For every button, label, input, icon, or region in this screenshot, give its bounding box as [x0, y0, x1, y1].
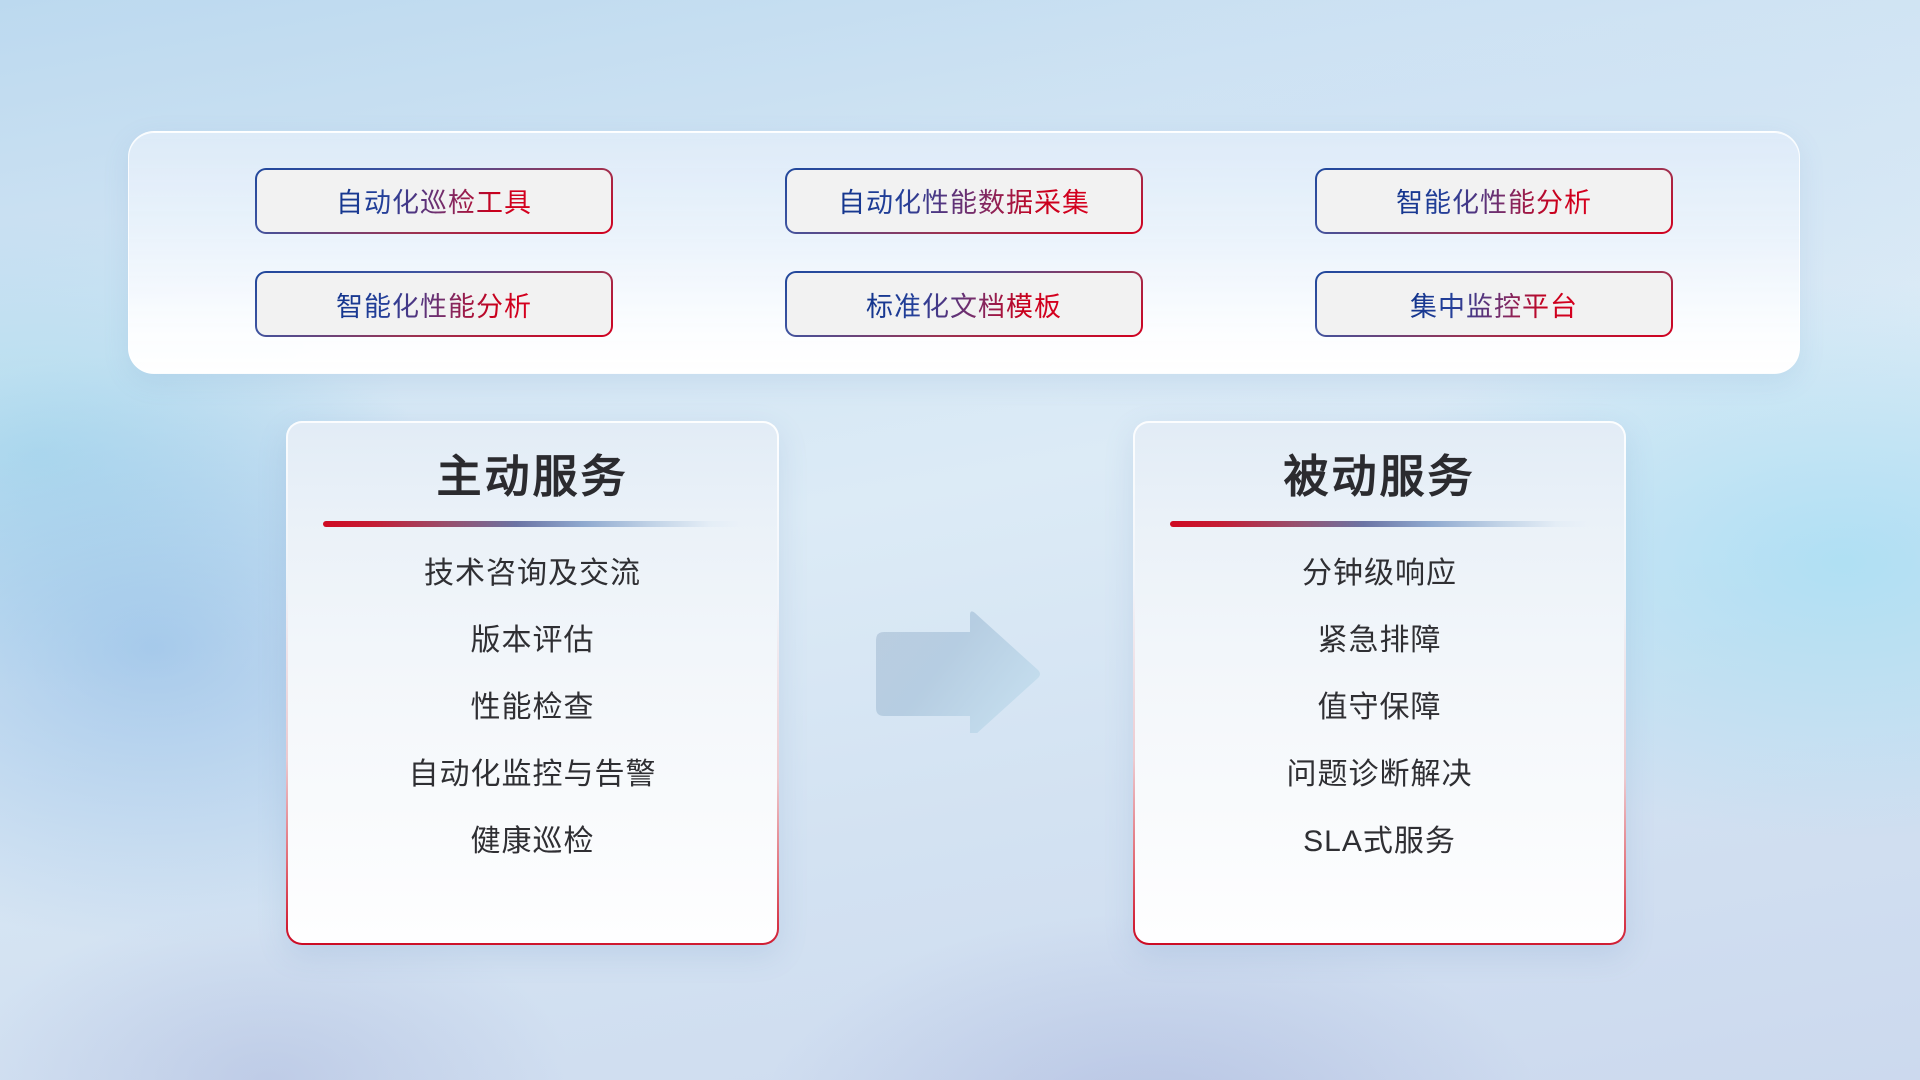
tag-chip[interactable]: 智能化性能分析	[255, 271, 613, 337]
service-card-title: 主动服务	[436, 449, 628, 505]
capability-tags-panel: 自动化巡检工具 自动化性能数据采集 智能化性能分析 智能化性能分析 标准化文档模…	[128, 131, 1800, 374]
tag-chip-label: 自动化巡检工具	[336, 181, 532, 220]
title-divider	[323, 521, 743, 527]
service-card-body: 被动服务 分钟级响应 紧急排障 值守保障 问题诊断解决 SLA式服务	[1135, 423, 1624, 943]
tag-chip-body: 自动化巡检工具	[257, 170, 611, 232]
service-card-proactive: 主动服务 技术咨询及交流 版本评估 性能检查 自动化监控与告警 健康巡检	[286, 421, 779, 945]
tag-chip-body: 智能化性能分析	[257, 273, 611, 335]
service-item: SLA式服务	[1303, 825, 1456, 858]
service-card-title: 被动服务	[1283, 449, 1475, 505]
service-item: 紧急排障	[1318, 624, 1442, 657]
service-item: 技术咨询及交流	[424, 557, 641, 590]
tag-chip-label: 智能化性能分析	[1396, 181, 1592, 220]
title-divider	[1170, 521, 1590, 527]
service-item: 自动化监控与告警	[409, 758, 657, 791]
tag-chip[interactable]: 标准化文档模板	[785, 271, 1143, 337]
tag-chip-label: 智能化性能分析	[336, 285, 532, 324]
tag-chip-body: 标准化文档模板	[787, 273, 1141, 335]
tag-chip[interactable]: 集中监控平台	[1315, 271, 1673, 337]
tag-chip[interactable]: 智能化性能分析	[1315, 168, 1673, 234]
service-card-reactive: 被动服务 分钟级响应 紧急排障 值守保障 问题诊断解决 SLA式服务	[1133, 421, 1626, 945]
service-item: 版本评估	[471, 624, 595, 657]
service-item-list: 分钟级响应 紧急排障 值守保障 问题诊断解决 SLA式服务	[1135, 557, 1624, 858]
service-item: 值守保障	[1318, 691, 1442, 724]
tag-chip[interactable]: 自动化性能数据采集	[785, 168, 1143, 234]
service-item: 分钟级响应	[1302, 557, 1457, 590]
service-item-list: 技术咨询及交流 版本评估 性能检查 自动化监控与告警 健康巡检	[288, 557, 777, 858]
service-card-body: 主动服务 技术咨询及交流 版本评估 性能检查 自动化监控与告警 健康巡检	[288, 423, 777, 943]
tag-chip-body: 自动化性能数据采集	[787, 170, 1141, 232]
tag-chip-label: 集中监控平台	[1410, 285, 1578, 324]
service-item: 性能检查	[471, 691, 595, 724]
tag-chip-label: 自动化性能数据采集	[838, 181, 1090, 220]
tag-chip[interactable]: 自动化巡检工具	[255, 168, 613, 234]
tag-chip-label: 标准化文档模板	[866, 285, 1062, 324]
tag-chip-body: 集中监控平台	[1317, 273, 1671, 335]
flow-arrow-right-icon	[872, 611, 1042, 733]
service-item: 问题诊断解决	[1287, 758, 1473, 791]
tag-chip-body: 智能化性能分析	[1317, 170, 1671, 232]
service-item: 健康巡检	[471, 825, 595, 858]
